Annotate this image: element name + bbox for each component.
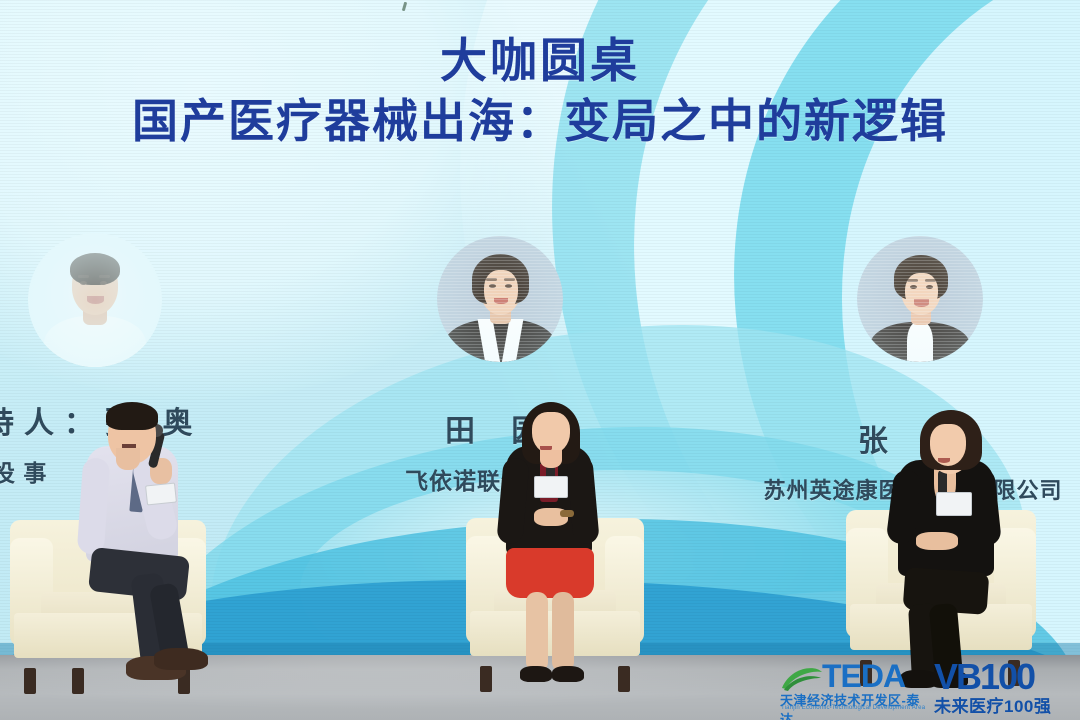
armchair-left-leg-1 bbox=[24, 668, 36, 694]
vb100-chinese-name: 未来医疗100强 bbox=[934, 692, 1051, 717]
panelist-1-headshot-texture bbox=[437, 236, 563, 362]
host-headshot-hair bbox=[70, 253, 121, 285]
session-title-line1: 大咖圆桌 bbox=[0, 34, 1080, 88]
panelist-2-name-badge bbox=[936, 492, 972, 516]
panelist-1-headshot bbox=[437, 236, 563, 362]
session-title-line2: 国产医疗器械出海：变局之中的新逻辑 bbox=[0, 92, 1080, 151]
host-headshot-brow-right bbox=[99, 275, 110, 278]
teda-english-name: Tianjin Economic-Technological Developme… bbox=[781, 705, 925, 711]
panelist-1-skirt bbox=[506, 548, 594, 598]
host-name-badge bbox=[145, 482, 177, 505]
host-headshot-brow-left bbox=[78, 275, 89, 278]
panelist-2-hands bbox=[916, 532, 958, 550]
panelist-1-bracelet bbox=[560, 510, 574, 517]
teda-logo: TEDA 天津经济技术开发区-泰达 Tianjin Economic-Techn… bbox=[778, 660, 928, 716]
host-neck bbox=[116, 448, 140, 470]
host-headshot bbox=[28, 233, 162, 367]
panelist-1-person bbox=[496, 402, 626, 692]
panelist-1-leg-left bbox=[526, 592, 548, 672]
panelist-1-shoe-left bbox=[520, 666, 552, 682]
conference-panel-photo: 大咖圆桌 国产医疗器械出海：变局之中的新逻辑 bbox=[0, 0, 1080, 720]
host-shoe-right bbox=[154, 648, 208, 670]
panelist-2-headshot-texture bbox=[857, 236, 983, 362]
panelist-1-shoe-right bbox=[552, 666, 584, 682]
host-person bbox=[78, 398, 228, 688]
panelist-2-person bbox=[890, 412, 1030, 692]
sponsor-logo-bar: TEDA 天津经济技术开发区-泰达 Tianjin Economic-Techn… bbox=[778, 660, 1078, 718]
host-hair bbox=[106, 402, 158, 430]
panelist-1-name-badge bbox=[534, 476, 568, 498]
panelist-1-leg-right bbox=[552, 592, 574, 672]
armchair-center-leg-1 bbox=[480, 666, 492, 692]
vb100-logo: VB100 未来医疗100强 bbox=[934, 658, 1080, 716]
panelist-2-mouth bbox=[938, 458, 950, 463]
panelist-1-neck bbox=[540, 450, 562, 468]
session-title: 大咖圆桌 国产医疗器械出海：变局之中的新逻辑 bbox=[0, 34, 1080, 150]
teda-swoosh-icon bbox=[780, 662, 824, 692]
panelist-2-headshot bbox=[857, 236, 983, 362]
